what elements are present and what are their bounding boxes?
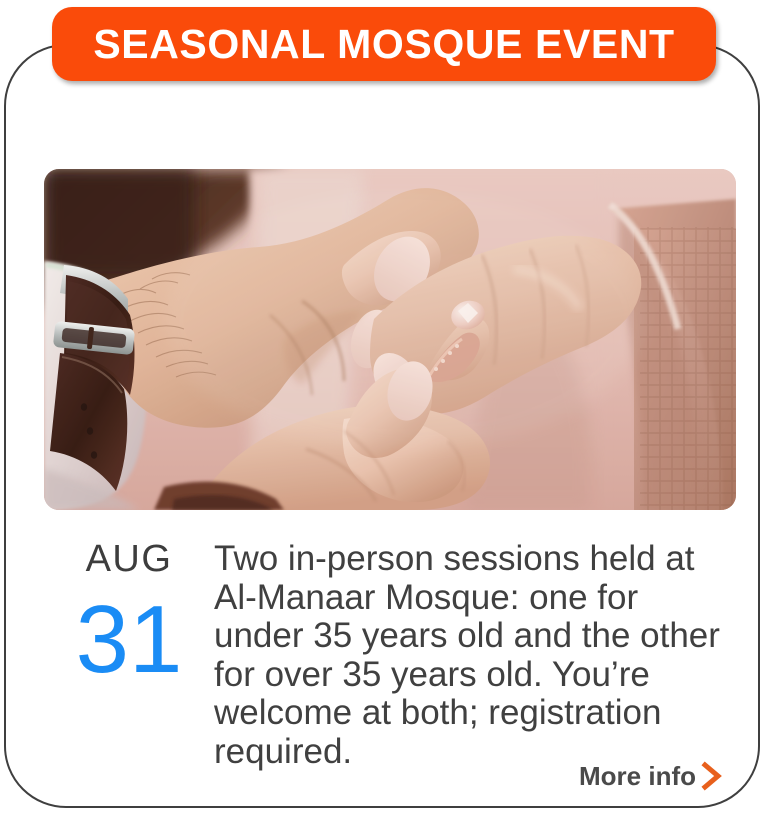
more-info-link[interactable]: More info	[579, 760, 726, 792]
photo-illustration	[44, 169, 736, 510]
event-date-day: 31	[44, 592, 214, 688]
header-badge-title: SEASONAL MOSQUE EVENT	[93, 24, 674, 65]
event-card: AUG 31 Two in-person sessions held at Al…	[4, 44, 760, 808]
more-info-label: More info	[579, 763, 696, 789]
engagement-ring-hands-photo	[44, 169, 736, 510]
event-description: Two in-person sessions held at Al-Manaar…	[214, 532, 736, 771]
event-date-month: AUG	[44, 540, 214, 580]
card-body: AUG 31 Two in-person sessions held at Al…	[44, 532, 736, 771]
header-badge: SEASONAL MOSQUE EVENT	[52, 7, 716, 81]
chevron-right-icon	[698, 760, 726, 792]
event-date-block: AUG 31	[44, 532, 214, 688]
